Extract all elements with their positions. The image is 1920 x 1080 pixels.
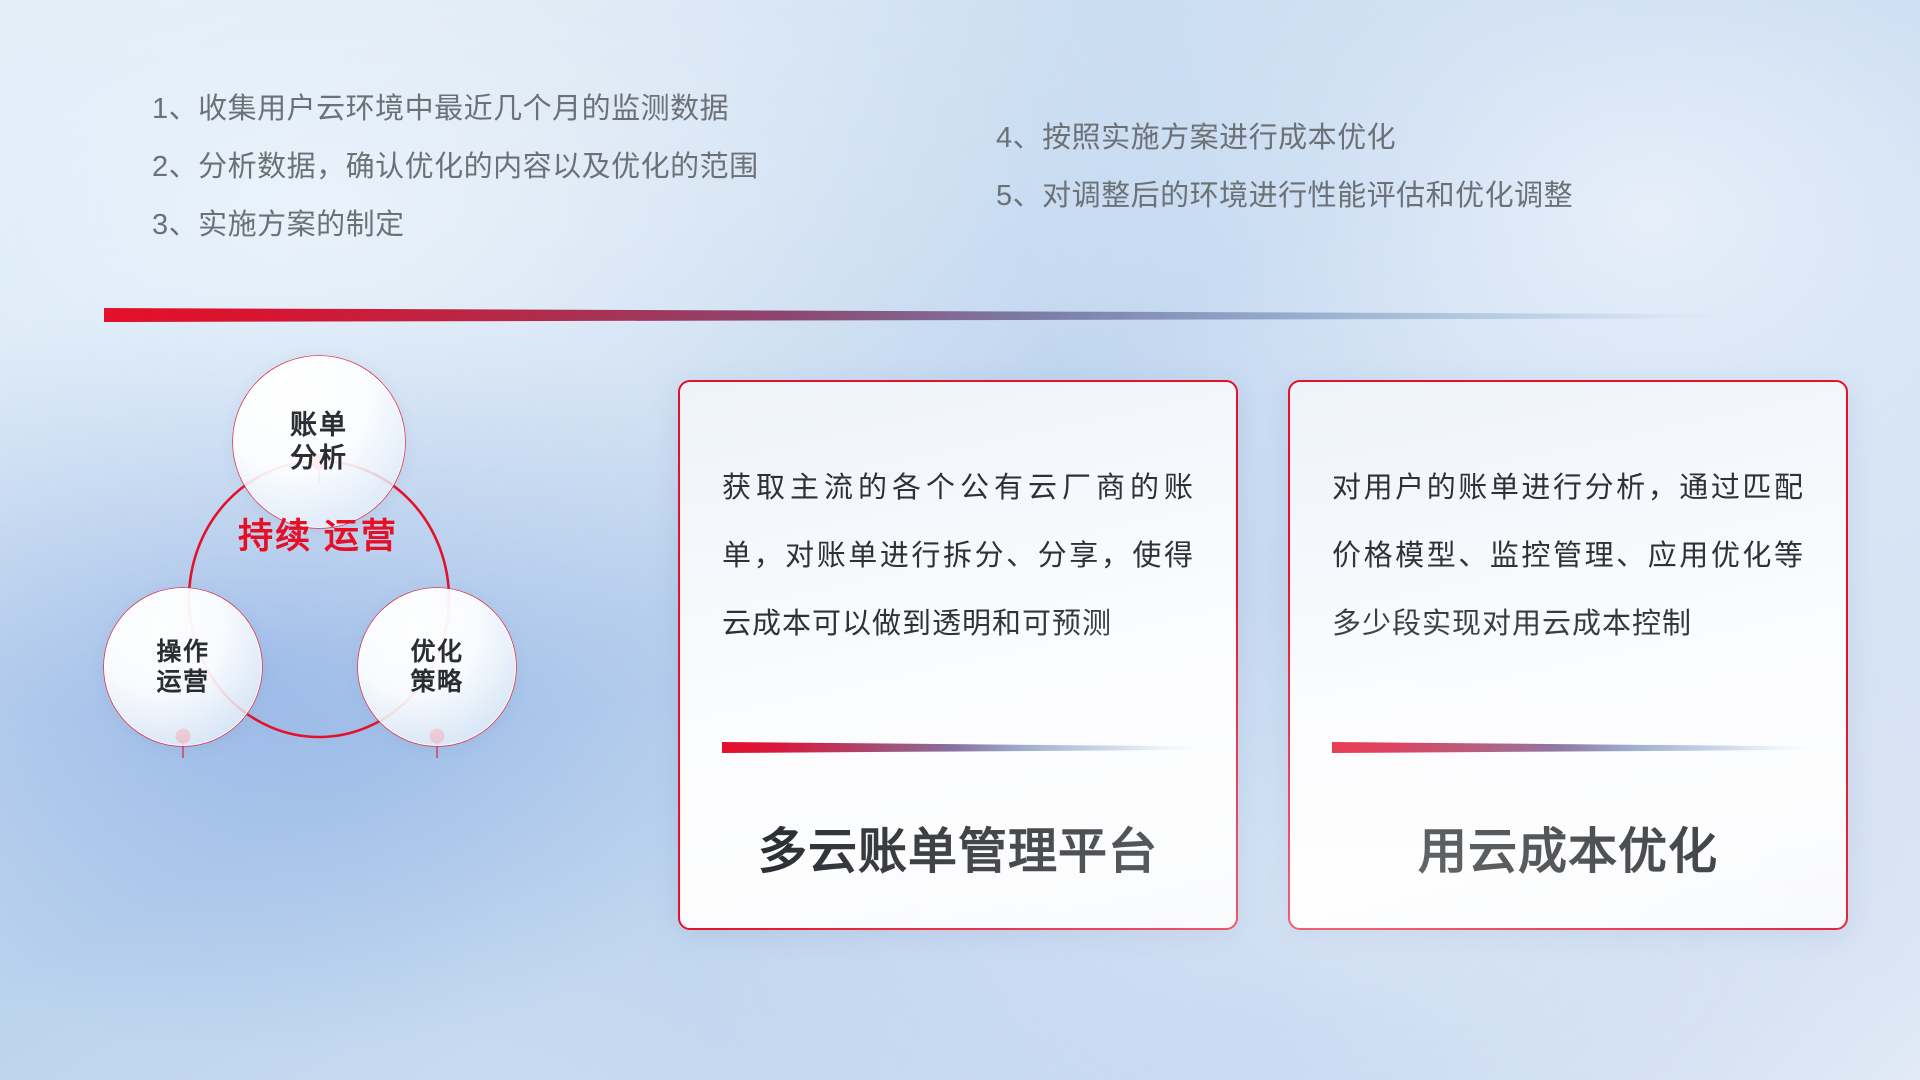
steps-list-left: 1、收集用户云环境中最近几个月的监测数据 2、分析数据，确认优化的内容以及优化的…	[152, 95, 759, 240]
card-cloud-cost-optimization[interactable]: 对用户的账单进行分析，通过匹配价格模型、监控管理、应用优化等多少段实现对用云成本…	[1288, 380, 1848, 930]
step-item-5: 5、对调整后的环境进行性能评估和优化调整	[996, 182, 1573, 211]
venn-center-label: 持续 运营	[228, 516, 408, 558]
card-cloud-cost-optimization-title: 用云成本优化	[1290, 812, 1846, 883]
card-multicloud-billing[interactable]: 获取主流的各个公有云厂商的账单，对账单进行拆分、分享，使得云成本可以做到透明和可…	[678, 380, 1238, 930]
step-item-4: 4、按照实施方案进行成本优化	[996, 124, 1573, 153]
bubble-operations-line1: 操作	[156, 637, 209, 668]
card-divider-wedge	[1332, 742, 1810, 753]
section-divider-wedge	[104, 308, 1732, 322]
card-divider-wedge	[722, 742, 1200, 753]
step-item-2: 2、分析数据，确认优化的内容以及优化的范围	[152, 153, 759, 182]
bubble-bill-analysis[interactable]: 账单 分析	[233, 356, 405, 528]
card-cloud-cost-optimization-body: 对用户的账单进行分析，通过匹配价格模型、监控管理、应用优化等多少段实现对用云成本…	[1332, 454, 1804, 658]
continuous-operation-diagram: 账单 分析 操作 运营 优化 策略 持续 运营	[96, 356, 566, 766]
card-multicloud-billing-title: 多云账单管理平台	[680, 812, 1236, 883]
bubble-operations-line2: 运营	[156, 667, 209, 698]
steps-list-right: 4、按照实施方案进行成本优化 5、对调整后的环境进行性能评估和优化调整	[996, 124, 1573, 211]
venn-center-line1: 持续	[238, 517, 312, 556]
bubble-bill-analysis-line1: 账单	[290, 409, 348, 442]
bubble-optimization-strategy[interactable]: 优化 策略	[358, 588, 516, 746]
bubble-optimization-strategy-line1: 优化	[410, 637, 463, 668]
venn-center-line2: 运营	[324, 517, 398, 556]
slide-canvas: 1、收集用户云环境中最近几个月的监测数据 2、分析数据，确认优化的内容以及优化的…	[0, 0, 1920, 1080]
bubble-operations[interactable]: 操作 运营	[104, 588, 262, 746]
bubble-bill-analysis-line2: 分析	[290, 442, 348, 475]
step-item-1: 1、收集用户云环境中最近几个月的监测数据	[152, 95, 759, 124]
step-item-3: 3、实施方案的制定	[152, 211, 759, 240]
bubble-optimization-strategy-line2: 策略	[410, 667, 463, 698]
card-multicloud-billing-body: 获取主流的各个公有云厂商的账单，对账单进行拆分、分享，使得云成本可以做到透明和可…	[722, 454, 1194, 658]
